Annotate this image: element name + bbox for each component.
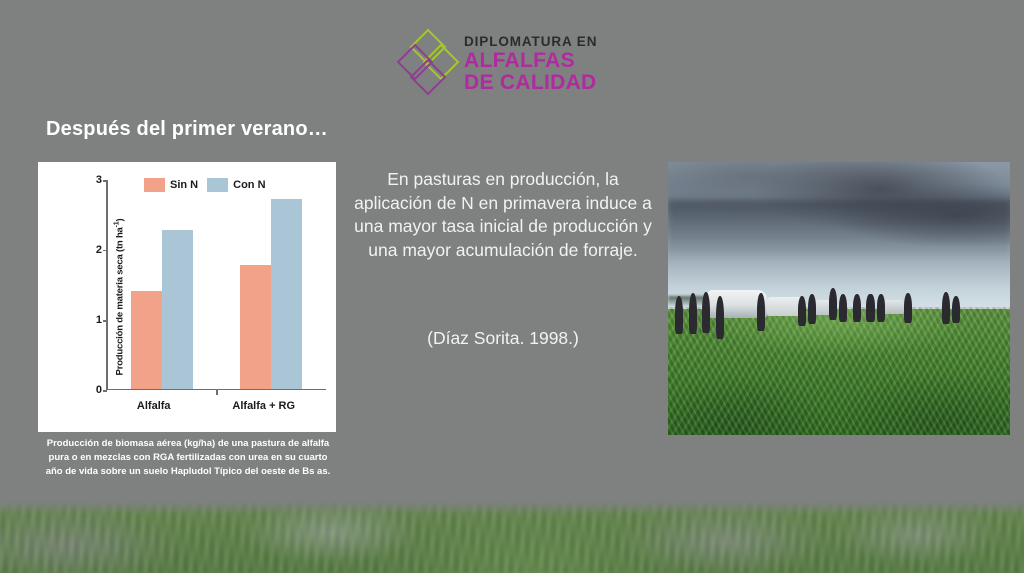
page-title: Después del primer verano…: [46, 118, 328, 141]
logo-line-2: ALFALFAS: [464, 50, 597, 71]
photo-person: [716, 296, 724, 340]
photo-person: [829, 288, 837, 321]
y-tick-2: 2: [82, 244, 102, 256]
photo-person: [675, 296, 683, 334]
chart-x-axis-labels: Alfalfa Alfalfa + RG: [106, 400, 326, 412]
y-tick-0: 0: [82, 384, 102, 396]
bar-alfalfa-con-n: [162, 230, 193, 388]
chart-plot-area: 3 2 1 0: [106, 180, 326, 390]
photo-person: [689, 293, 697, 334]
y-tick-3: 3: [82, 174, 102, 186]
y-tick-1: 1: [82, 314, 102, 326]
photo-person: [839, 294, 847, 321]
photo-person: [808, 294, 816, 324]
slide-root: DIPLOMATURA EN ALFALFAS DE CALIDAD Despu…: [0, 0, 1024, 573]
bar-group-alfalfa-rg: [240, 180, 302, 389]
photo-person: [877, 294, 885, 321]
bottom-decorative-strip: [0, 501, 1024, 573]
chart-caption: Producción de biomasa aérea (kg/ha) de u…: [40, 437, 336, 479]
photo-person: [798, 296, 806, 326]
photo-person: [866, 294, 874, 321]
chart-figure: Producción de materia seca (tn ha-1) Sin…: [38, 162, 336, 432]
logo-line-1: DIPLOMATURA EN: [464, 35, 597, 49]
chart-x-axis-mid-tick: [216, 390, 218, 395]
photo-person: [702, 292, 710, 333]
citation-text: (Díaz Sorita. 1998.): [352, 328, 654, 349]
photo-person: [904, 293, 912, 323]
x-label-alfalfa-rg: Alfalfa + RG: [232, 400, 295, 412]
photo-storm-clouds: [668, 200, 1010, 260]
body-text: En pasturas en producción, la aplicación…: [352, 168, 654, 263]
bar-alfalfa-rg-con-n: [271, 199, 302, 388]
photo-person: [757, 293, 765, 331]
chart-bars: [108, 180, 327, 389]
photo-person: [853, 294, 861, 321]
photo-person: [942, 292, 950, 325]
field-day-photo: [668, 162, 1010, 435]
x-label-alfalfa: Alfalfa: [137, 400, 171, 412]
photo-vehicle-4: [883, 300, 904, 314]
logo-line-3: DE CALIDAD: [464, 72, 597, 93]
brand-logo: DIPLOMATURA EN ALFALFAS DE CALIDAD: [398, 30, 598, 96]
strip-top-fade: [0, 501, 1024, 515]
bar-alfalfa-sin-n: [131, 291, 162, 388]
logo-wordmark: DIPLOMATURA EN ALFALFAS DE CALIDAD: [464, 33, 597, 94]
bar-group-alfalfa: [131, 180, 193, 389]
photo-person: [952, 296, 960, 323]
chart-panel: Producción de materia seca (tn ha-1) Sin…: [38, 162, 336, 432]
diamond-logo-icon: [398, 32, 456, 94]
bar-alfalfa-rg-sin-n: [240, 265, 271, 389]
